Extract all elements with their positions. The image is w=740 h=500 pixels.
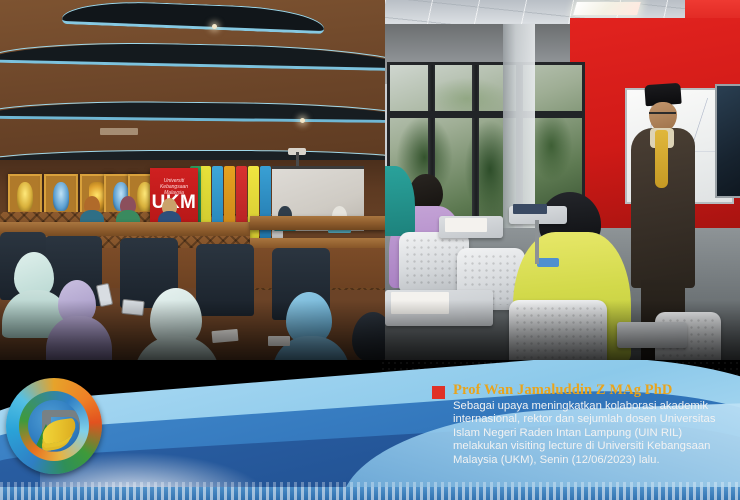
auditorium-scene: Universiti Kebangsaan Malaysia UKM: [0, 0, 385, 378]
ceiling-cove: [62, 0, 324, 34]
ceiling-spotlight: [300, 118, 305, 123]
ceiling: [0, 0, 385, 168]
banner-dot-strip: [0, 487, 740, 500]
necktie: [655, 130, 668, 188]
papers: [268, 336, 290, 346]
ceiling-cove: [0, 100, 385, 124]
tablet-arm-desk: [617, 322, 687, 348]
news-graphic: Universiti Kebangsaan Malaysia UKM: [0, 0, 740, 500]
red-square-bullet: [432, 386, 445, 399]
chair-back: [196, 244, 254, 316]
ceiling-vent: [100, 128, 138, 135]
desk-row: [250, 216, 385, 230]
bag-item: [513, 204, 547, 214]
ceiling-spotlight: [212, 24, 217, 29]
photo-auditorium: Universiti Kebangsaan Malaysia UKM: [0, 0, 385, 378]
projector-mount: [296, 152, 299, 166]
classroom-scene: [385, 0, 740, 378]
window-transom: [390, 111, 582, 118]
caption-title: Prof Wan Jamaluddin Z MAg PhD: [453, 382, 726, 399]
caption-body: Sebagai upaya meningkatkan kolaborasi ak…: [453, 400, 725, 467]
papers: [445, 218, 487, 232]
tablet-device: [121, 299, 144, 316]
wall-display-screen: [715, 84, 740, 198]
lecturer: [631, 84, 695, 334]
name-badge: [537, 258, 559, 267]
uinril-logo: [6, 378, 102, 474]
papers: [212, 329, 239, 343]
desk-leg: [535, 220, 539, 264]
eyeglasses: [649, 112, 676, 119]
ceiling-light: [573, 2, 641, 15]
logo-core: [28, 400, 80, 452]
wall-pillar: [503, 24, 535, 229]
papers: [391, 292, 449, 314]
bottom-banner: Prof Wan Jamaluddin Z MAg PhD Sebagai up…: [0, 360, 740, 500]
ceiling-cove: [0, 39, 385, 71]
photo-classroom: [385, 0, 740, 378]
photo-collage: Universiti Kebangsaan Malaysia UKM: [0, 0, 740, 378]
caption-block: Prof Wan Jamaluddin Z MAg PhD Sebagai up…: [432, 382, 726, 467]
window-mullion: [472, 65, 479, 233]
